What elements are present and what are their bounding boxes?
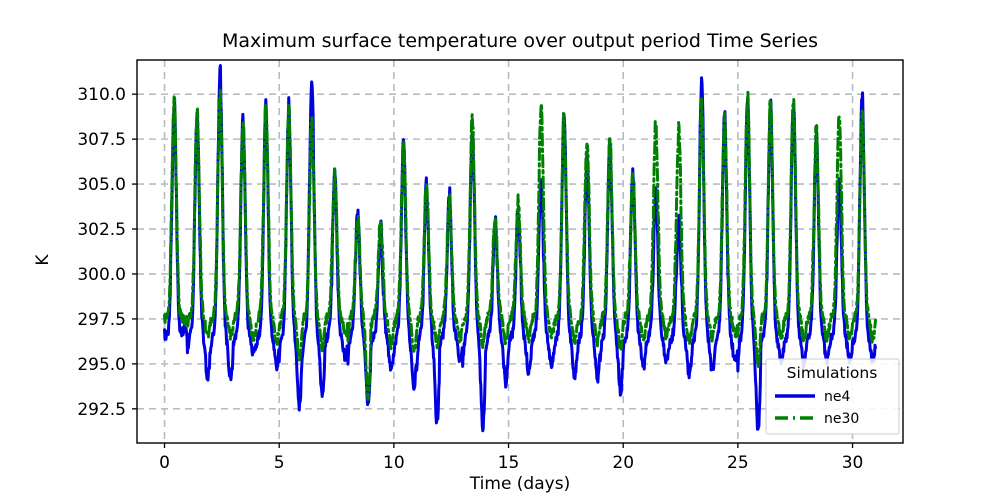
y-tick-label: 302.5 [77, 220, 126, 240]
legend[interactable]: Simulations ne4 ne30 [766, 359, 899, 434]
y-axis-label: K [33, 254, 53, 266]
y-tick-label: 300.0 [77, 265, 126, 285]
x-tick-label: 15 [498, 453, 520, 473]
legend-title: Simulations [787, 364, 878, 382]
x-tick-label: 25 [727, 453, 749, 473]
legend-label-ne30[interactable]: ne30 [824, 411, 859, 427]
chart-title: Maximum surface temperature over output … [222, 30, 818, 52]
legend-label-ne4[interactable]: ne4 [824, 389, 850, 405]
x-tick-label: 30 [842, 453, 864, 473]
x-tick-label: 5 [274, 453, 285, 473]
x-tick-label: 0 [159, 453, 170, 473]
x-tick-label: 10 [383, 453, 405, 473]
y-tick-label: 297.5 [77, 310, 126, 330]
chart-page: Maximum surface temperature over output … [0, 0, 1000, 500]
y-tick-label: 292.5 [77, 400, 126, 420]
time-series-chart: Maximum surface temperature over output … [0, 0, 1000, 500]
x-tick-label: 20 [612, 453, 634, 473]
y-tick-label: 295.0 [77, 355, 126, 375]
x-axis-label: Time (days) [469, 474, 570, 494]
y-tick-label: 305.0 [77, 175, 126, 195]
y-tick-label: 307.5 [77, 130, 126, 150]
y-tick-label: 310.0 [77, 85, 126, 105]
